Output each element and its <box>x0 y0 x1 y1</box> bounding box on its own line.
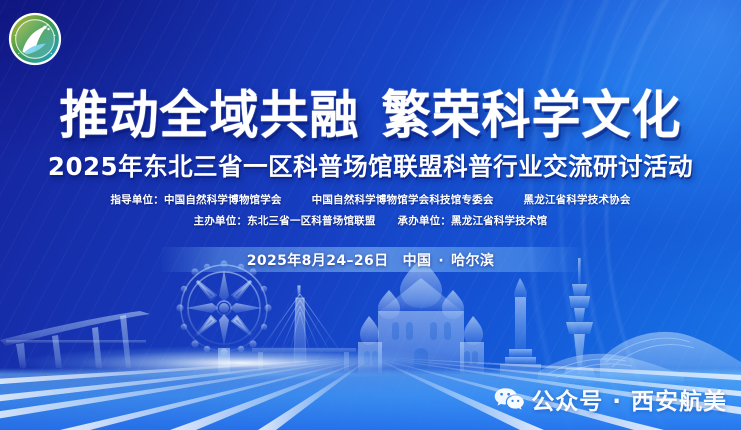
poster-main-title: 推动全域共融繁荣科学文化 <box>0 74 741 149</box>
wechat-icon <box>494 387 524 412</box>
organizer-units-line: 主办单位：东北三省一区科普场馆联盟承办单位：黑龙江省科学技术馆 <box>0 213 741 228</box>
event-date: 2025年8月24–26日 <box>247 253 389 269</box>
guidance-unit-3: 黑龙江省科学技术协会 <box>524 194 631 206</box>
event-date-location: 2025年8月24–26日中国·哈尔滨 <box>0 250 741 270</box>
title-part-1: 推动全域共融 <box>59 86 359 146</box>
horizon-light-glow <box>0 336 521 390</box>
association-emblem-icon <box>8 12 62 66</box>
event-country: 中国 <box>403 253 432 269</box>
guidance-unit-2: 中国自然科学博物馆学会科技馆专委会 <box>312 194 494 206</box>
title-part-2: 繁荣科学文化 <box>382 86 682 146</box>
undertaker-label: 承办单位： <box>398 215 452 227</box>
event-city: 哈尔滨 <box>451 253 494 269</box>
host-label: 主办单位： <box>194 215 248 227</box>
watermark-text: 公众号 · 西安航美 <box>531 382 727 416</box>
guidance-unit-1: 中国自然科学博物馆学会 <box>164 194 282 206</box>
poster-banner: 推动全域共融繁荣科学文化 2025年东北三省一区科普场馆联盟科普行业交流研讨活动… <box>0 0 741 430</box>
guidance-units-line: 指导单位：中国自然科学博物馆学会中国自然科学博物馆学会科技馆专委会黑龙江省科学技… <box>0 192 741 207</box>
guidance-label: 指导单位： <box>110 194 164 206</box>
undertaker-unit: 黑龙江省科学技术馆 <box>451 215 547 227</box>
host-unit: 东北三省一区科普场馆联盟 <box>247 215 375 227</box>
poster-subtitle: 2025年东北三省一区科普场馆联盟科普行业交流研讨活动 <box>0 148 741 183</box>
event-separator-dot: · <box>438 253 444 269</box>
watermark: 公众号 · 西安航美 <box>494 382 727 416</box>
